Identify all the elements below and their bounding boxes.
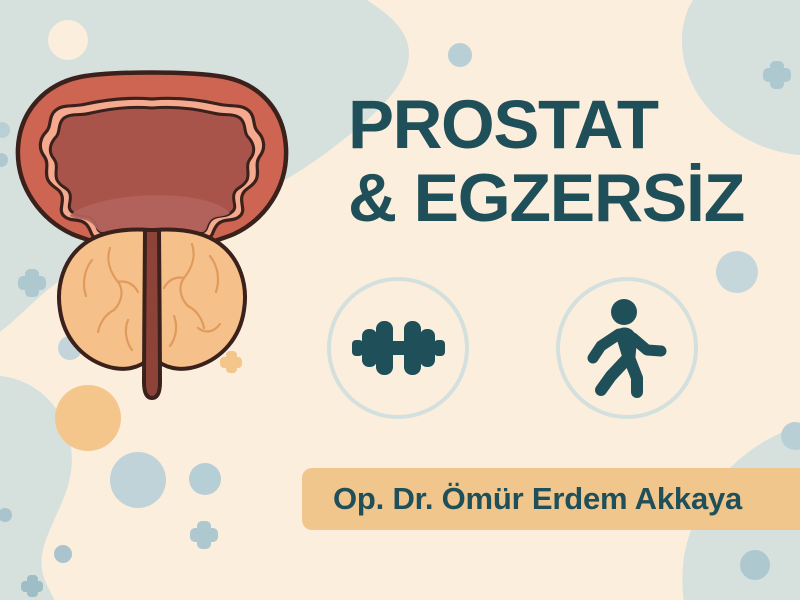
badge-walking-exercise[interactable]: [556, 277, 698, 419]
dumbbell-icon: [338, 288, 458, 408]
blue-circle-bottom-mid: [110, 452, 166, 508]
plus-mark-blue-bottom: [190, 521, 218, 549]
title-line-2: & EGZERSİZ: [348, 166, 778, 231]
bladder-prostate-anatomy-illustration: [2, 52, 302, 412]
blue-circle-upper-mid: [448, 43, 472, 67]
badge-strength-training[interactable]: [327, 277, 469, 419]
urethra: [144, 230, 160, 398]
presenter-name-banner: Op. Dr. Ömür Erdem Akkaya: [302, 468, 800, 530]
blue-circle-right-large: [716, 251, 758, 293]
prostate-right-lobe: [152, 230, 245, 369]
blue-circle-bottom-right: [740, 550, 770, 580]
title-line-1: PROSTAT: [348, 92, 778, 158]
prostate-left-lobe: [59, 230, 152, 369]
presenter-name: Op. Dr. Ömür Erdem Akkaya: [333, 481, 742, 517]
walking-person-icon: [567, 288, 687, 408]
blue-circle-bottom-tiny: [54, 545, 72, 563]
blue-circle-bottom-small: [189, 463, 221, 495]
poster-canvas: PROSTAT & EGZERSİZ: [0, 0, 800, 600]
page-title: PROSTAT & EGZERSİZ: [348, 92, 778, 232]
